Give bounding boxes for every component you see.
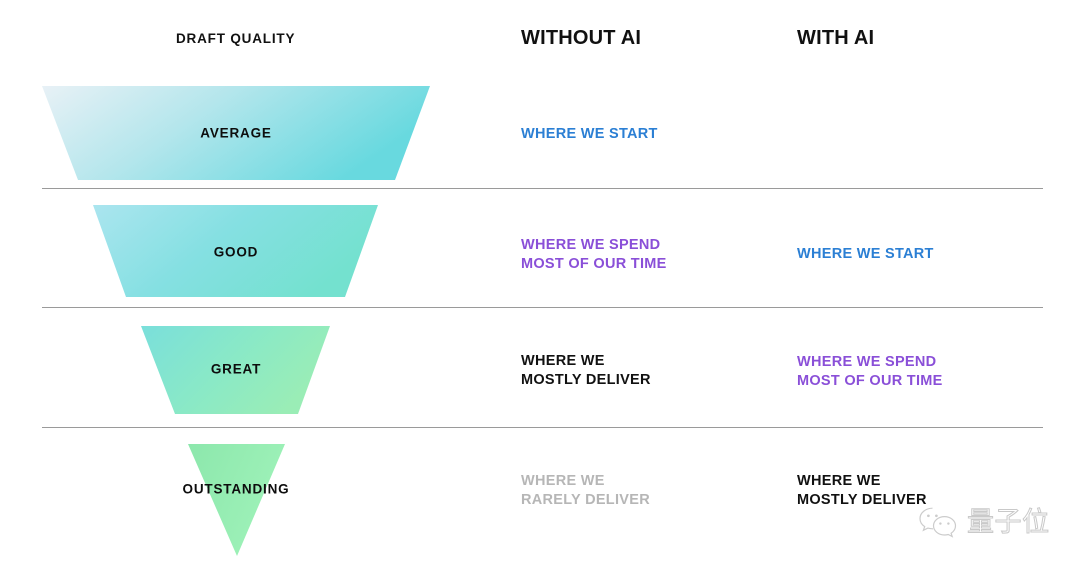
note-with-ai-good: WHERE WE START <box>797 245 934 264</box>
watermark: 量子位 <box>918 505 1050 539</box>
note-with-ai-great: WHERE WE SPEND MOST OF OUR TIME <box>797 353 943 391</box>
column-header-without-ai: WITHOUT AI <box>521 27 641 50</box>
funnel-label-good: GOOD <box>214 245 259 260</box>
column-header-draft-quality: DRAFT QUALITY <box>176 31 295 46</box>
funnel-label-outstanding: OUTSTANDING <box>183 482 290 497</box>
funnel-label-average: AVERAGE <box>200 126 271 141</box>
watermark-text: 量子位 <box>967 509 1050 536</box>
row-divider-2 <box>42 307 1043 308</box>
note-without-ai-average: WHERE WE START <box>521 125 658 144</box>
row-divider-3 <box>42 427 1043 428</box>
note-without-ai-good: WHERE WE SPEND MOST OF OUR TIME <box>521 236 667 274</box>
column-header-with-ai: WITH AI <box>797 27 874 50</box>
wechat-icon <box>918 505 960 539</box>
note-with-ai-outstanding: WHERE WE MOSTLY DELIVER <box>797 472 927 510</box>
funnel-diagram: DRAFT QUALITY WITHOUT AI WITH AI <box>0 0 1080 571</box>
funnel-label-great: GREAT <box>211 362 261 377</box>
row-divider-1 <box>42 188 1043 189</box>
funnel-tier-outstanding <box>188 444 285 556</box>
note-without-ai-outstanding: WHERE WE RARELY DELIVER <box>521 472 650 510</box>
note-without-ai-great: WHERE WE MOSTLY DELIVER <box>521 352 651 390</box>
